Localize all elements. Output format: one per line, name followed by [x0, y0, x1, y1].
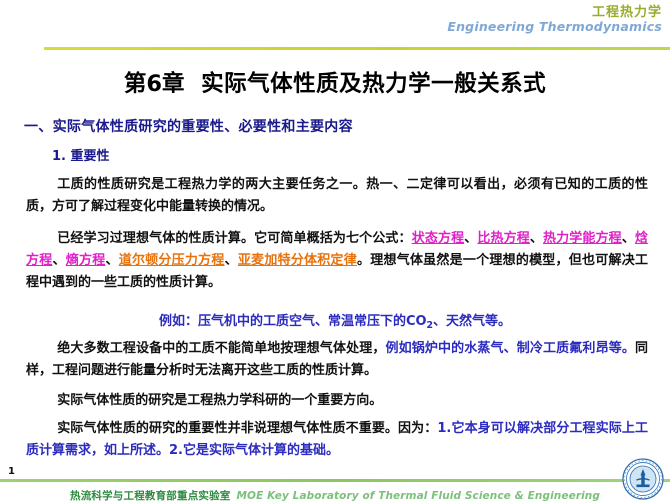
paragraph-5-body: 实际气体性质的研究的重要性并非说理想气体性质不重要。因为：1.它本身可以解决部分…: [26, 418, 648, 462]
formula-term: 熵方程: [66, 253, 106, 268]
chapter-label: 第6章: [124, 71, 185, 97]
paragraph-2-body: 已经学习过理想气体的性质计算。它可简单概括为七个公式：状态方程、比热方程、热力学…: [26, 228, 648, 294]
section-heading-2: 1. 重要性: [52, 145, 110, 164]
formula-separator: 、: [225, 253, 238, 268]
page-number: 1: [8, 466, 15, 477]
example-text-pre: 例如：压气机中的工质空气、常温常压下的CO: [159, 314, 427, 329]
slide-canvas: 工程热力学 Engineering Thermodynamics 第6章 实际气…: [0, 0, 670, 503]
page-title: 第6章 实际气体性质及热力学一般关系式: [0, 66, 670, 98]
seal-icon: [622, 458, 664, 500]
formula-separator: 、: [622, 231, 635, 246]
slide-header: 工程热力学 Engineering Thermodynamics: [447, 6, 662, 33]
paragraph-4-text: 实际气体性质的研究是工程热力学科研的一个重要方向。: [26, 390, 648, 412]
formula-term: 比热方程: [477, 231, 530, 246]
footer-divider: [0, 479, 670, 482]
paragraph-3-body: 绝大多数工程设备中的工质不能简单地按理想气体处理，例如锅炉中的水蒸气、制冷工质氟…: [26, 338, 648, 382]
section-heading-1: 一、实际气体性质研究的重要性、必要性和主要内容: [24, 116, 353, 136]
chapter-title-text: 实际气体性质及热力学一般关系式: [201, 71, 546, 97]
university-seal-logo: [622, 458, 664, 500]
paragraph-2-lead: 已经学习过理想气体的性质计算。它可简单概括为七个公式：: [57, 231, 412, 246]
header-title-en: Engineering Thermodynamics: [447, 20, 662, 33]
formula-separator: 、: [464, 231, 477, 246]
example-text-post: 、天然气等。: [433, 314, 511, 329]
example-line-gas: 例如：压气机中的工质空气、常温常压下的CO2、天然气等。: [0, 312, 670, 333]
paragraph-1-text: 工质的性质研究是工程热力学的两大主要任务之一。热一、二定律可以看出，必须有已知的…: [26, 174, 648, 218]
formula-term: 道尔顿分压力方程: [119, 253, 225, 268]
paragraph-5: 实际气体性质的研究的重要性并非说理想气体性质不重要。因为：1.它本身可以解决部分…: [26, 418, 648, 462]
formula-separator: 、: [105, 253, 118, 268]
paragraph-3-highlight: 例如锅炉中的水蒸气、制冷工质氟利昂等。: [385, 341, 635, 356]
paragraph-3-part-a: 绝大多数工程设备中的工质不能简单地按理想气体处理，: [57, 341, 385, 356]
formula-separator: 、: [530, 231, 543, 246]
formula-separator: 、: [52, 253, 65, 268]
formula-term: 亚麦加特分体积定律: [238, 253, 357, 268]
paragraph-3: 绝大多数工程设备中的工质不能简单地按理想气体处理，例如锅炉中的水蒸气、制冷工质氟…: [26, 338, 648, 382]
footer-lab-cn: 热流科学与工程教育部重点实验室: [70, 490, 231, 502]
slide-footer: 热流科学与工程教育部重点实验室MOE Key Laboratory of The…: [0, 484, 670, 503]
paragraph-5-part-a: 实际气体性质的研究的重要性并非说理想气体性质不重要。因为：: [57, 421, 437, 436]
paragraph-1: 工质的性质研究是工程热力学的两大主要任务之一。热一、二定律可以看出，必须有已知的…: [26, 174, 648, 218]
example-subscript: 2: [427, 320, 434, 331]
header-divider: [44, 47, 670, 50]
formula-term: 热力学能方程: [543, 231, 622, 246]
paragraph-2: 已经学习过理想气体的性质计算。它可简单概括为七个公式：状态方程、比热方程、热力学…: [26, 228, 648, 294]
paragraph-4: 实际气体性质的研究是工程热力学科研的一个重要方向。: [26, 390, 648, 412]
header-title-cn: 工程热力学: [447, 6, 662, 20]
formula-term: 状态方程: [412, 231, 465, 246]
footer-lab-en: MOE Key Laboratory of Thermal Fluid Scie…: [237, 490, 600, 502]
